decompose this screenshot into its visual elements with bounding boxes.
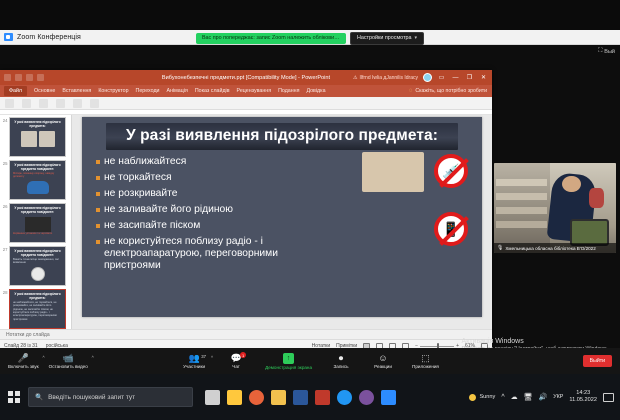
thumbnail-body: Міліцію, пожежну охорону, швидку допомог… <box>10 172 65 179</box>
recording-notification[interactable]: Вас про попереджає: запис Zoom належить … <box>196 33 346 44</box>
quick-access-toolbar[interactable] <box>0 74 44 81</box>
new-slide-icon[interactable] <box>22 99 31 108</box>
desktop-top-area <box>0 0 620 30</box>
participants-button[interactable]: 👥 37 Участники ^ <box>181 353 207 369</box>
prohibited-image <box>21 131 37 147</box>
paste-icon[interactable] <box>5 99 14 108</box>
zoom-meeting-toolbar: 🎤 Включить звук ^ 📹 Остановить видео ^ 👥… <box>0 348 620 374</box>
powerpoint-icon[interactable] <box>315 390 330 405</box>
participants-icon: 👥 <box>188 353 199 363</box>
slide-content: не наближайтеся не торкайтеся не розкрив… <box>82 150 482 276</box>
bullet-icon <box>96 224 100 228</box>
zoom-slider-track[interactable] <box>420 346 454 347</box>
firefox-icon[interactable] <box>249 390 264 405</box>
record-icon: ⏺ <box>339 353 344 363</box>
chat-badge: 1 <box>240 352 246 358</box>
powerpoint-ribbon-tabs: Файл Основне Вставлення Конструктор Пере… <box>0 85 492 97</box>
tab-slideshow[interactable]: Показ слайдів <box>195 88 230 94</box>
list-item: не розкривайте <box>96 188 326 200</box>
slide-number: 24 <box>1 117 9 123</box>
bullet-text: не наближайтеся <box>104 156 186 168</box>
action-center-icon[interactable] <box>603 393 614 402</box>
thumbnail-body: Вкажіть точне місце знаходження, час вия… <box>10 258 65 265</box>
system-tray: Sunny ^ ☁ 🖥 🔊 УКР 14:23 11.05.2022 <box>469 390 620 404</box>
thumbnail-title: У разі виявлення підозрілого предмета по… <box>10 161 65 172</box>
slide-thumbnail[interactable]: У разі виявлення підозрілого предмета по… <box>9 246 66 286</box>
view-settings-label: Настройки просмотра <box>357 35 412 41</box>
no-syringe-sign: 💉 <box>434 154 468 188</box>
list-item: не наближайтеся <box>96 156 326 168</box>
slide-thumbnail-panel[interactable]: 24 У разі виявлення підозрілого предмета… <box>0 115 72 329</box>
thumbnail-body: Керівника установи та чергового <box>10 232 65 235</box>
clock-date: 11.05.2022 <box>569 397 597 403</box>
person-head <box>562 176 580 192</box>
no-mobile-phone-sign: 📱 <box>434 212 468 246</box>
list-item: не заливайте його рідиною <box>96 204 326 216</box>
slide-thumbnail[interactable]: У разі виявлення підозрілого предмета по… <box>9 160 66 200</box>
zoom-exit-label: Вый <box>604 49 615 55</box>
edge-icon[interactable] <box>337 390 352 405</box>
bookshelf-background <box>494 163 550 253</box>
clock-time: 14:23 <box>576 390 590 396</box>
windows-start-icon <box>8 391 20 403</box>
windows-taskbar: 🔍 Введіть пошуковий запит тут Sunny ^ ☁ … <box>0 374 620 420</box>
tab-file[interactable]: Файл <box>4 86 27 96</box>
slide-editing-area[interactable]: У разі виявлення підозрілого предмета: н… <box>72 115 492 329</box>
editing-group-icon[interactable] <box>90 99 99 108</box>
thumbnail-title: У разі виявлення підозрілого предмета: <box>10 118 65 129</box>
word-icon[interactable] <box>293 390 308 405</box>
search-input[interactable]: 🔍 Введіть пошуковий запит тут <box>28 387 193 407</box>
search-placeholder: Введіть пошуковий запит тут <box>48 394 135 401</box>
start-slideshow-icon[interactable] <box>37 74 44 81</box>
participant-name-badge: 🎙 Хмельницька обласна бібліотека В'О/202… <box>494 243 616 253</box>
share-screen-icon: ↑ <box>283 353 294 364</box>
bullet-text: не засипайте піском <box>104 220 200 232</box>
screen: Zoom Конференція Вас про попереджає: зап… <box>0 0 620 420</box>
slide-title-box[interactable]: У разі виявлення підозрілого предмета: <box>106 123 458 150</box>
notes-pane[interactable]: Нотатки до слайда <box>0 329 492 339</box>
slide-number: 27 <box>1 246 9 252</box>
zoom-window-title: Zoom Конференція <box>17 34 81 41</box>
tab-view[interactable]: Подання <box>278 88 299 94</box>
telephone-image <box>27 181 49 194</box>
slide-thumbnail[interactable]: У разі виявлення підозрілого предмета: <box>9 117 66 157</box>
chevron-down-icon: ▾ <box>415 35 418 41</box>
search-icon: 🔍 <box>35 393 43 401</box>
language-indicator[interactable]: УКР <box>553 394 563 400</box>
current-slide[interactable]: У разі виявлення підозрілого предмета: н… <box>82 117 482 317</box>
powerpoint-titlebar-right: ⚠ Ilfrnd Iwlia дJannilis Idracy ▭ — ❐ ✕ <box>353 73 492 82</box>
weather-label: Sunny <box>479 394 495 400</box>
tab-review[interactable]: Рецензування <box>237 88 272 94</box>
taskbar-apps <box>205 390 396 405</box>
warning-icon: ⚠ <box>353 75 357 81</box>
participants-label: Участники <box>183 364 205 369</box>
list-item[interactable]: 27 У разі виявлення підозрілого предмета… <box>0 246 71 286</box>
share-screen-label: Демонстрация экрана <box>265 365 312 370</box>
ribbon-display-options-icon[interactable]: ▭ <box>437 74 446 81</box>
zoom-icon <box>4 33 13 41</box>
avatar[interactable] <box>423 73 432 82</box>
tab-animations[interactable]: Анімація <box>167 88 188 94</box>
bullet-icon <box>96 160 100 164</box>
zoom-icon[interactable] <box>381 390 396 405</box>
paragraph-group-icon[interactable] <box>56 99 65 108</box>
syringe-icon: 💉 <box>438 158 464 184</box>
powerpoint-window: Вибухонебезпечні предмети.ppt [Compatibi… <box>0 70 492 342</box>
list-item: не торкайтеся <box>96 172 326 184</box>
tell-me-label: Скажіть, що потрібно зробити <box>415 88 487 94</box>
reactions-label: Реакции <box>374 364 392 369</box>
volume-icon[interactable]: 🔊 <box>539 393 548 401</box>
list-item[interactable]: 26 У разі виявлення підозрілого предмета… <box>0 203 71 243</box>
slide-number: 25 <box>1 160 9 166</box>
notepad-icon[interactable] <box>271 390 286 405</box>
view-settings-button[interactable]: Настройки просмотра▾ <box>350 32 424 45</box>
reactions-button[interactable]: ☺ Реакции <box>370 353 396 369</box>
apps-button[interactable]: ⬚ Приложения <box>412 353 439 369</box>
document-image <box>39 131 55 147</box>
slide-bullet-list[interactable]: не наближайтеся не торкайтеся не розкрив… <box>96 156 326 276</box>
thumbnail-body: не наближайтеся, не торкайтеся, не розкр… <box>10 301 65 321</box>
restore-button[interactable]: ❐ <box>465 74 474 81</box>
participant-name: Хмельницька обласна бібліотека В'О/2022 <box>505 246 595 251</box>
list-item[interactable]: 25 У разі виявлення підозрілого предмета… <box>0 160 71 200</box>
powerpoint-body: 24 У разі виявлення підозрілого предмета… <box>0 115 492 329</box>
record-button[interactable]: ⏺ Запись <box>328 353 354 369</box>
slide-number: 28 <box>1 289 9 295</box>
tab-transitions[interactable]: Переходи <box>136 88 160 94</box>
mobile-phone-icon: 📱 <box>438 216 464 242</box>
list-item[interactable]: 28 У разі виявлення підозрілого предмета… <box>0 289 71 329</box>
notes-placeholder: Нотатки до слайда <box>6 332 50 338</box>
lightbulb-icon: ◌ <box>409 88 413 94</box>
reactions-icon: ☺ <box>378 353 387 363</box>
undo-icon[interactable] <box>15 74 22 81</box>
microphone-icon: 🎙 <box>497 245 503 251</box>
thumbnail-title: У разі виявлення підозрілого предмета по… <box>10 204 65 215</box>
bullet-icon <box>96 240 100 244</box>
activation-title: Активація Windows <box>462 338 608 345</box>
chat-button[interactable]: 💬 1 Чат <box>223 353 249 369</box>
bullet-text: не користуйтеся поблизу радіо - і електр… <box>104 236 319 273</box>
photo-image <box>25 217 51 232</box>
font-group-icon[interactable] <box>39 99 48 108</box>
file-explorer-icon[interactable] <box>227 390 242 405</box>
participant-video-thumbnail[interactable]: 🎙 Хмельницька обласна бібліотека В'О/202… <box>494 163 616 253</box>
weather-widget[interactable]: Sunny <box>469 394 495 401</box>
account-badge-label: Ilfrnd Iwlia дJannilis Idracy <box>360 75 419 81</box>
close-button[interactable]: ✕ <box>479 74 488 81</box>
slide-thumbnail[interactable]: У разі виявлення підозрілого предмета по… <box>9 203 66 243</box>
tell-me-box[interactable]: ◌ Скажіть, що потрібно зробити <box>409 88 492 94</box>
onedrive-icon[interactable]: ☁ <box>511 393 518 401</box>
network-icon[interactable]: 🖥 <box>524 393 533 401</box>
bullet-text: не розкривайте <box>104 188 177 200</box>
list-item: не засипайте піском <box>96 220 326 232</box>
slide-thumbnail-selected[interactable]: У разі виявлення підозрілого предмета: н… <box>9 289 66 329</box>
seated-person <box>589 188 604 208</box>
viber-icon[interactable] <box>359 390 374 405</box>
clock[interactable]: 14:23 11.05.2022 <box>569 390 597 404</box>
bullet-text: не заливайте його рідиною <box>104 204 233 216</box>
thumbnail-images <box>10 131 65 147</box>
badge-image <box>31 267 45 281</box>
thumbnail-title: У разі виявлення підозрілого предмета по… <box>10 247 65 258</box>
apps-label: Приложения <box>412 364 439 369</box>
start-button[interactable] <box>0 374 28 420</box>
expand-icon: ⛶ <box>598 48 602 55</box>
person-with-box-photo <box>362 152 424 192</box>
bullet-icon <box>96 208 100 212</box>
thumbnail-title: У разі виявлення підозрілого предмета: <box>10 290 65 301</box>
share-screen-button[interactable]: ↑ Демонстрация экрана <box>265 353 312 370</box>
zoom-exit-fullscreen[interactable]: ⛶ Вый <box>598 48 615 55</box>
page-title: У разі виявлення підозрілого предмета: <box>112 127 452 144</box>
task-view-icon[interactable] <box>205 390 220 405</box>
tab-design[interactable]: Конструктор <box>98 88 128 94</box>
chevron-up-icon[interactable]: ^ <box>501 394 504 401</box>
chat-label: Чат <box>232 364 240 369</box>
redo-icon[interactable] <box>26 74 33 81</box>
save-icon[interactable] <box>4 74 11 81</box>
list-item[interactable]: 24 У разі виявлення підозрілого предмета… <box>0 117 71 157</box>
wheelchair <box>570 219 609 246</box>
sun-icon <box>469 394 476 401</box>
apps-icon: ⬚ <box>421 353 430 363</box>
slide-number: 26 <box>1 203 9 209</box>
powerpoint-titlebar: Вибухонебезпечні предмети.ppt [Compatibi… <box>0 70 492 85</box>
participants-count: 37 <box>201 354 206 359</box>
record-label: Запись <box>333 364 348 369</box>
bullet-icon <box>96 176 100 180</box>
minimize-button[interactable]: — <box>451 75 460 81</box>
account-badge[interactable]: ⚠ Ilfrnd Iwlia дJannilis Idracy <box>353 75 418 81</box>
zoom-toolbar-center: 👥 37 Участники ^ 💬 1 Чат ↑ Демонстрация … <box>0 353 620 370</box>
bullet-icon <box>96 192 100 196</box>
tab-home[interactable]: Основне <box>34 88 55 94</box>
chevron-up-icon[interactable]: ^ <box>211 355 213 360</box>
powerpoint-ribbon-commands[interactable] <box>0 97 492 110</box>
bullet-text: не торкайтеся <box>104 172 172 184</box>
tab-insert[interactable]: Вставлення <box>62 88 91 94</box>
shapes-group-icon[interactable] <box>73 99 82 108</box>
tab-help[interactable]: Довідка <box>306 88 325 94</box>
list-item: не користуйтеся поблизу радіо - і електр… <box>96 236 326 273</box>
